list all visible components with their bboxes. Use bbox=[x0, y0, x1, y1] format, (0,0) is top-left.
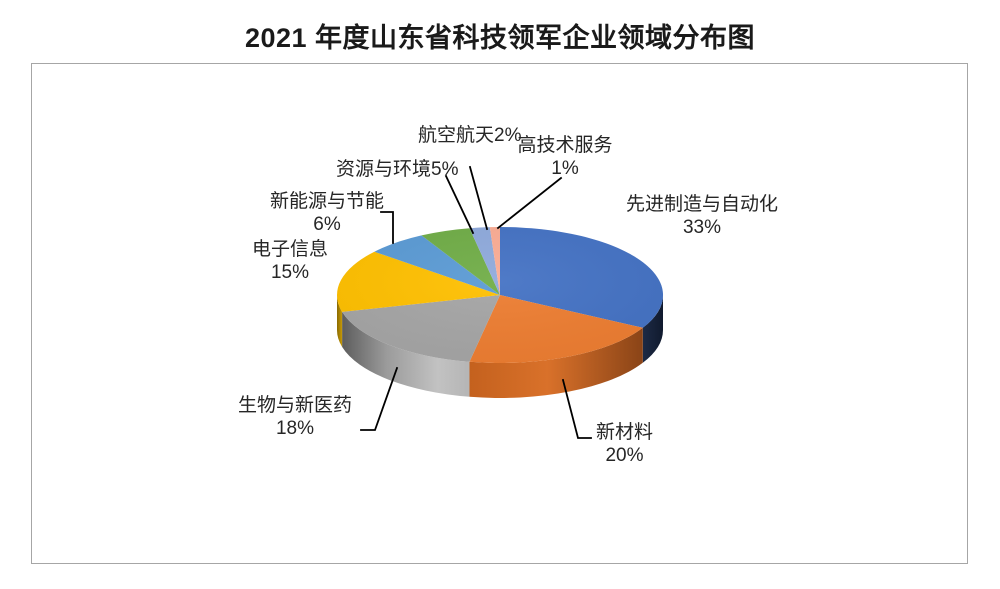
datalabel-name-electronic-info: 电子信息 bbox=[252, 239, 328, 260]
datalabel-pct-hightech-service: 1% bbox=[506, 157, 624, 180]
datalabel-pct-advanced-manufacturing: 33% bbox=[626, 216, 778, 239]
datalabel-pct-resources-environment: 5% bbox=[431, 159, 458, 180]
pie-chart: 2021 年度山东省科技领军企业领域分布图 bbox=[0, 0, 1000, 589]
datalabel-name-hightech-service: 高技术服务 bbox=[517, 135, 612, 156]
datalabel-new-materials: 新材料 20% bbox=[596, 421, 653, 467]
datalabel-name-resources-environment: 资源与环境 bbox=[336, 159, 431, 180]
datalabel-hightech-service: 高技术服务 1% bbox=[506, 134, 624, 180]
datalabel-name-new-energy: 新能源与节能 bbox=[270, 191, 384, 212]
datalabel-pct-biomedicine: 18% bbox=[225, 417, 365, 440]
datalabel-biomedicine: 生物与新医药 18% bbox=[225, 394, 365, 440]
datalabel-name-biomedicine: 生物与新医药 bbox=[238, 395, 352, 416]
datalabel-new-energy: 新能源与节能 6% bbox=[250, 190, 404, 236]
datalabel-electronic-info: 电子信息 15% bbox=[245, 238, 335, 284]
chart-title: 2021 年度山东省科技领军企业领域分布图 bbox=[0, 16, 1000, 55]
datalabel-pct-new-energy: 6% bbox=[250, 213, 404, 236]
datalabel-resources-environment: 资源与环境5% bbox=[336, 158, 458, 181]
datalabel-name-advanced-manufacturing: 先进制造与自动化 bbox=[626, 194, 778, 215]
datalabel-name-aerospace: 航空航天 bbox=[418, 125, 494, 146]
datalabel-advanced-manufacturing: 先进制造与自动化 33% bbox=[626, 193, 778, 239]
datalabel-pct-electronic-info: 15% bbox=[245, 261, 335, 284]
datalabel-pct-new-materials: 20% bbox=[596, 444, 653, 467]
datalabel-name-new-materials: 新材料 bbox=[596, 422, 653, 443]
